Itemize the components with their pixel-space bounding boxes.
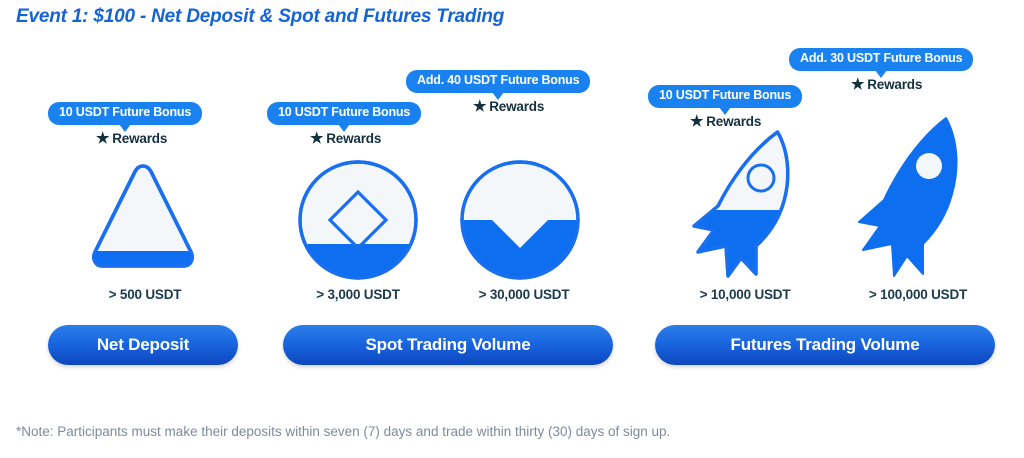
rewards-text: Rewards bbox=[112, 131, 167, 146]
star-icon: ★ bbox=[310, 131, 323, 146]
threshold-spot-tier2: > 30,000 USDT bbox=[434, 287, 614, 302]
rewards-text: Rewards bbox=[489, 99, 544, 114]
rewards-label-futures-tier2: ★ Rewards bbox=[851, 77, 922, 92]
rewards-text: Rewards bbox=[326, 131, 381, 146]
star-icon: ★ bbox=[851, 77, 864, 92]
bonus-badge-net-deposit-tier1: 10 USDT Future Bonus bbox=[48, 102, 202, 125]
threshold-futures-tier1: > 10,000 USDT bbox=[655, 287, 835, 302]
star-icon: ★ bbox=[473, 99, 486, 114]
circle-diamond-low-fill-icon bbox=[296, 158, 420, 282]
bonus-badge-futures-tier2: Add. 30 USDT Future Bonus bbox=[789, 48, 973, 71]
bonus-badge-spot-tier2: Add. 40 USDT Future Bonus bbox=[406, 70, 590, 93]
rewards-label-spot-tier2: ★ Rewards bbox=[473, 99, 544, 114]
rewards-label-net-deposit-tier1: ★ Rewards bbox=[96, 131, 167, 146]
category-pill-futures-trading-volume[interactable]: Futures Trading Volume bbox=[655, 325, 995, 365]
footnote-note: *Note: Participants must make their depo… bbox=[16, 424, 670, 439]
rewards-label-spot-tier1: ★ Rewards bbox=[310, 131, 381, 146]
rocket-half-fill-icon bbox=[684, 126, 804, 278]
threshold-futures-tier2: > 100,000 USDT bbox=[818, 287, 1018, 302]
event-promo-graphic: Event 1: $100 - Net Deposit & Spot and F… bbox=[0, 0, 1024, 458]
category-pill-net-deposit[interactable]: Net Deposit bbox=[48, 325, 238, 365]
bonus-badge-futures-tier1: 10 USDT Future Bonus bbox=[648, 85, 802, 108]
rewards-text: Rewards bbox=[867, 77, 922, 92]
page-title: Event 1: $100 - Net Deposit & Spot and F… bbox=[16, 6, 504, 28]
star-icon: ★ bbox=[96, 131, 109, 146]
bonus-badge-spot-tier1: 10 USDT Future Bonus bbox=[267, 102, 421, 125]
threshold-spot-tier1: > 3,000 USDT bbox=[268, 287, 448, 302]
triangle-gauge-icon bbox=[88, 162, 198, 277]
rocket-solid-icon bbox=[851, 112, 971, 280]
threshold-net-deposit-tier1: > 500 USDT bbox=[55, 287, 235, 302]
circle-diamond-half-fill-icon bbox=[458, 158, 582, 282]
category-pill-spot-trading-volume[interactable]: Spot Trading Volume bbox=[283, 325, 613, 365]
